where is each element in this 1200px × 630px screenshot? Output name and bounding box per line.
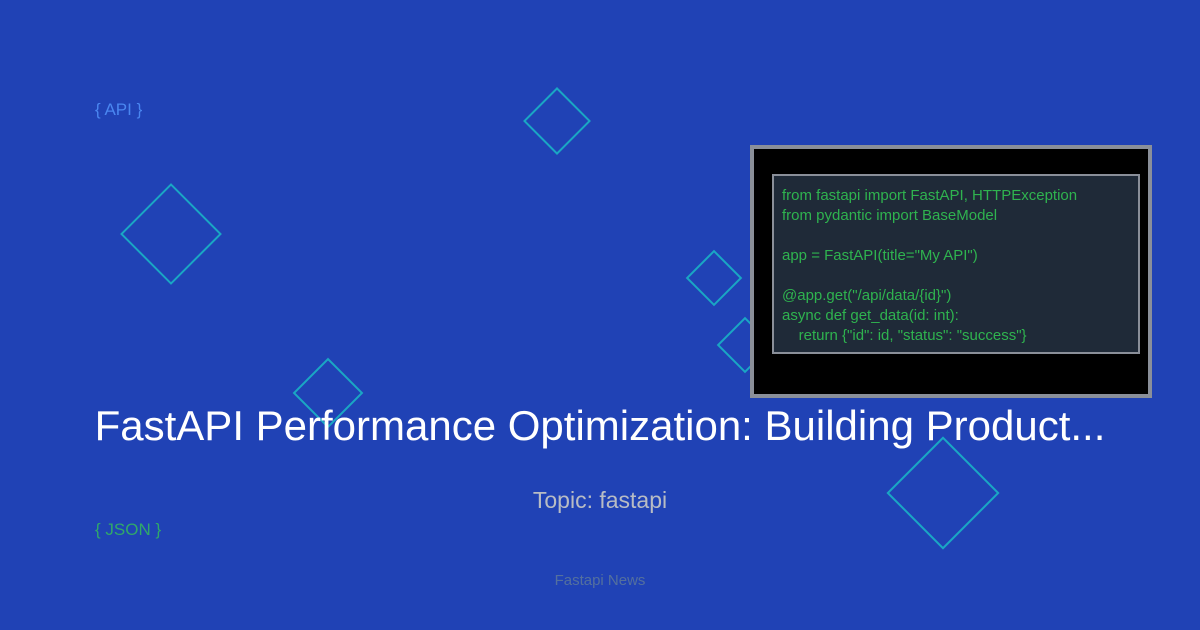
code-snippet-panel: from fastapi import FastAPI, HTTPExcepti… bbox=[772, 174, 1140, 354]
decorative-diamond bbox=[120, 183, 222, 285]
page-title: FastAPI Performance Optimization: Buildi… bbox=[0, 402, 1200, 450]
code-snippet-text: from fastapi import FastAPI, HTTPExcepti… bbox=[782, 186, 1077, 346]
json-tag-label: { JSON } bbox=[95, 520, 161, 540]
decorative-diamond bbox=[523, 87, 591, 155]
decorative-diamond bbox=[686, 250, 743, 307]
topic-subtitle: Topic: fastapi bbox=[0, 486, 1200, 514]
code-snippet-window: from fastapi import FastAPI, HTTPExcepti… bbox=[750, 145, 1152, 398]
site-footer: Fastapi News bbox=[0, 570, 1200, 591]
api-tag-label: { API } bbox=[95, 100, 142, 120]
